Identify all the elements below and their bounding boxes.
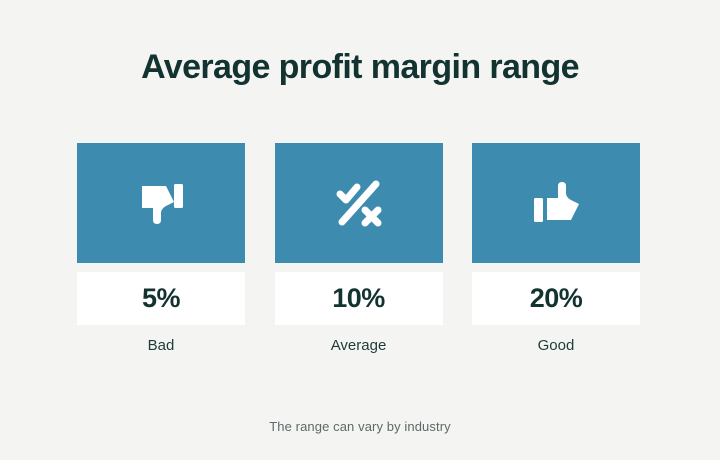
icon-tile-bad bbox=[77, 143, 245, 263]
thumbs-up-icon bbox=[525, 172, 587, 234]
value-box-bad: 5% bbox=[77, 272, 245, 325]
value-text-average: 10% bbox=[332, 283, 385, 314]
page-title: Average profit margin range bbox=[0, 48, 720, 87]
value-box-average: 10% bbox=[275, 272, 443, 325]
icon-tile-good bbox=[472, 143, 640, 263]
value-text-bad: 5% bbox=[142, 283, 180, 314]
metric-column-bad: 5% Bad bbox=[77, 143, 245, 354]
metric-column-average: 10% Average bbox=[275, 143, 443, 354]
footnote-text: The range can vary by industry bbox=[0, 419, 720, 434]
metric-columns: 5% Bad 10% bbox=[77, 143, 640, 354]
category-label-bad: Bad bbox=[77, 337, 245, 354]
metric-column-good: 20% Good bbox=[472, 143, 640, 354]
thumbs-down-icon bbox=[130, 172, 192, 234]
value-text-good: 20% bbox=[530, 283, 583, 314]
value-box-good: 20% bbox=[472, 272, 640, 325]
category-label-average: Average bbox=[275, 337, 443, 354]
infographic-root: Average profit margin range 5% Bad bbox=[0, 0, 720, 460]
category-label-good: Good bbox=[472, 337, 640, 354]
icon-tile-average bbox=[275, 143, 443, 263]
percent-check-cross-icon bbox=[328, 172, 390, 234]
